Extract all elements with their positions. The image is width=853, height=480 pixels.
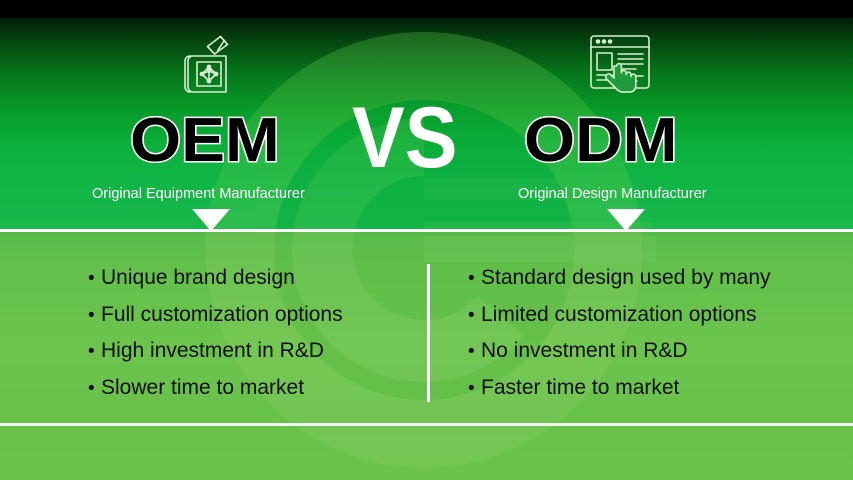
list-item: • Full customization options <box>88 297 418 334</box>
top-black-bar <box>0 0 853 18</box>
list-item: • Limited customization options <box>468 297 840 334</box>
list-item: • High investment in R&D <box>88 333 418 370</box>
bullet-icon: • <box>468 261 481 297</box>
subtitle-odm: Original Design Manufacturer <box>518 185 707 203</box>
bullet-icon: • <box>468 371 481 407</box>
arrow-down-icon-odm <box>607 209 645 231</box>
list-item: • Unique brand design <box>88 260 418 297</box>
list-item-label: Standard design used by many <box>481 260 840 296</box>
arrow-down-icon-oem <box>192 209 230 231</box>
page-title-odm: ODM <box>524 107 677 175</box>
list-item-label: Full customization options <box>101 297 418 333</box>
versus-label: VS <box>352 92 458 184</box>
bullet-icon: • <box>88 261 101 297</box>
list-item-label: Limited customization options <box>481 297 840 333</box>
blueprint-pencil-icon <box>176 30 246 105</box>
list-item-label: Unique brand design <box>101 260 418 296</box>
bullet-icon: • <box>88 371 101 407</box>
list-item-label: Faster time to market <box>481 370 840 406</box>
list-item: • No investment in R&D <box>468 333 840 370</box>
footer-divider-horizontal <box>0 423 853 426</box>
list-item: • Faster time to market <box>468 370 840 407</box>
oem-vs-odm-infographic: OEM ODM VS Original Equipment Manufactur… <box>0 0 853 480</box>
oem-feature-list: • Unique brand design • Full customizati… <box>88 260 418 406</box>
column-divider-vertical <box>427 264 430 402</box>
bullet-icon: • <box>468 298 481 334</box>
section-divider-horizontal <box>0 229 853 232</box>
page-title-oem: OEM <box>130 107 280 175</box>
list-item-label: No investment in R&D <box>481 333 840 369</box>
list-item: • Slower time to market <box>88 370 418 407</box>
list-item: • Standard design used by many <box>468 260 840 297</box>
bullet-icon: • <box>88 298 101 334</box>
list-item-label: High investment in R&D <box>101 333 418 369</box>
browser-click-hand-icon <box>583 30 661 105</box>
list-item-label: Slower time to market <box>101 370 418 406</box>
bullet-icon: • <box>88 334 101 370</box>
odm-feature-list: • Standard design used by many • Limited… <box>468 260 840 406</box>
subtitle-oem: Original Equipment Manufacturer <box>92 185 305 203</box>
bullet-icon: • <box>468 334 481 370</box>
